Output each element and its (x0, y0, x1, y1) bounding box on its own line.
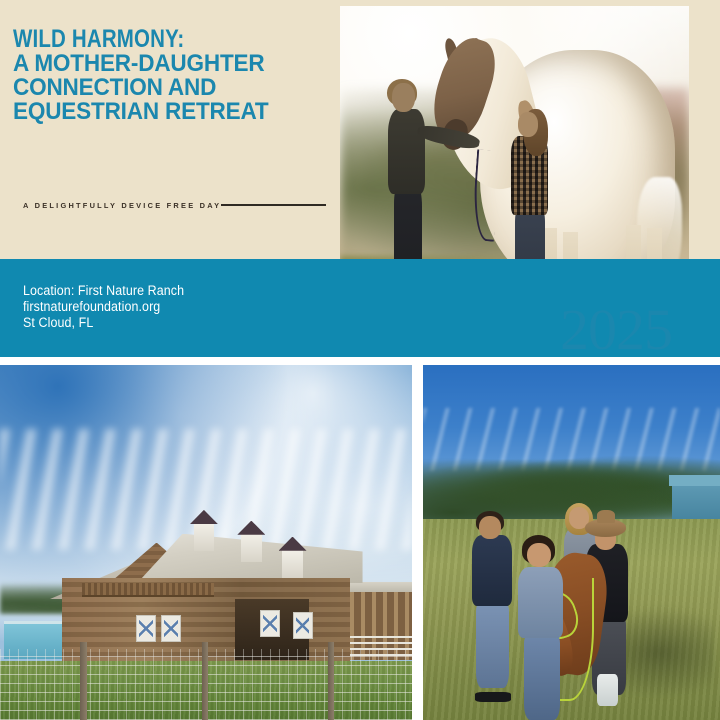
year-label: 2025 (560, 301, 672, 359)
photo1-girl-head (518, 112, 538, 137)
event-city-state: St Cloud, FL (23, 315, 184, 331)
photo3-person-leg-cast (597, 674, 618, 706)
poster-title: WILD HARMONY: A MOTHER-DAUGHTER CONNECTI… (13, 27, 333, 124)
photo3-person-boot (475, 692, 511, 703)
title-line-1: WILD HARMONY: (13, 27, 275, 51)
photo2-fence-post (80, 642, 87, 720)
photo2-cupola (241, 534, 262, 562)
event-details: Location: First Nature Ranch firstnature… (23, 283, 184, 330)
title-line-4: EQUESTRIAN RETREAT (13, 100, 307, 124)
photo2-cupola (194, 523, 215, 551)
photo1-woman-head (392, 83, 414, 112)
photo3-person-head (527, 543, 551, 568)
photo2-stall-door (161, 615, 181, 642)
photo1-woman-torso (388, 109, 425, 195)
event-location: Location: First Nature Ranch (23, 283, 184, 299)
photo2-cupola (282, 550, 303, 578)
tagline-row: A DELIGHTFULLY DEVICE FREE DAY (23, 201, 326, 210)
title-line-2: A MOTHER-DAUGHTER (13, 52, 307, 76)
photo3-person-legs (524, 635, 560, 720)
title-line-3: CONNECTION AND (13, 76, 307, 100)
photo2-fence-post (328, 642, 335, 720)
photo2-stall-door (293, 612, 313, 639)
photo3-person-legs (476, 603, 509, 688)
event-website[interactable]: firstnaturefoundation.org (23, 299, 184, 315)
photo2-stall-door (136, 615, 156, 642)
poster-canvas: WILD HARMONY: A MOTHER-DAUGHTER CONNECTI… (0, 0, 720, 720)
tagline-text: A DELIGHTFULLY DEVICE FREE DAY (23, 201, 221, 210)
photo3-person-sweater (518, 567, 563, 638)
photo2-stall-door (260, 610, 280, 637)
tagline-divider (221, 204, 326, 206)
photo-group-with-horse (423, 365, 720, 720)
photo3-person-vest (472, 535, 512, 606)
photo2-barn-balcony (82, 583, 214, 596)
photo-ranch-barn (0, 365, 412, 720)
photo3-person-head (479, 516, 501, 539)
photo2-fence-post (202, 642, 209, 720)
